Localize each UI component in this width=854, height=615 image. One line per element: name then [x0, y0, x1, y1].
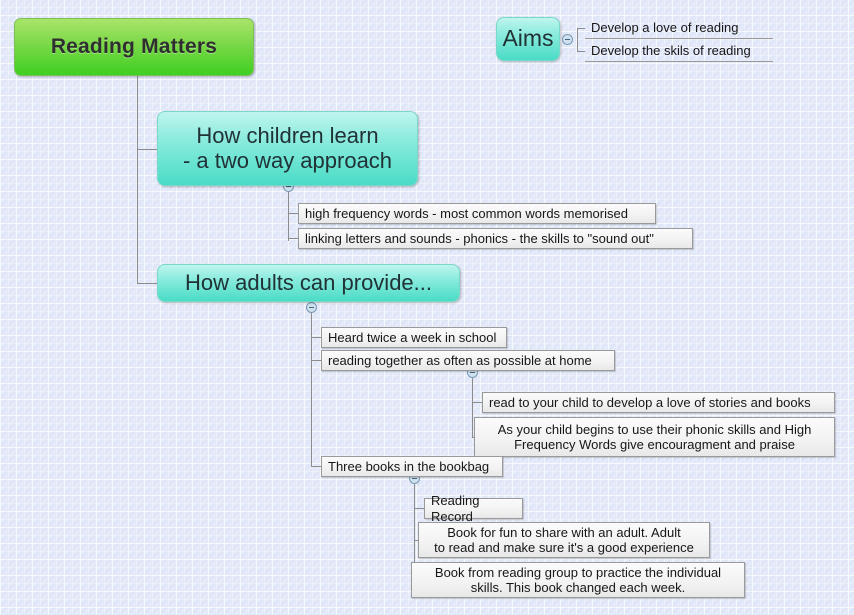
node-aims-child-develop-love[interactable]: Develop a love of reading	[585, 17, 773, 39]
node-how-children-learn[interactable]: How children learn - a two way approach	[157, 111, 418, 186]
node-heard-twice-a-week[interactable]: Heard twice a week in school	[321, 327, 507, 348]
node-phonic-skills-encouragement[interactable]: As your child begins to use their phonic…	[474, 417, 835, 457]
node-aims-child-develop-skills[interactable]: Develop the skils of reading	[585, 40, 773, 62]
collapse-toggle-how-adults[interactable]	[306, 302, 317, 313]
connector-reading-together-trunk	[472, 372, 473, 438]
connector-root-to-how-children	[137, 149, 157, 150]
connector-how-children-leaf-2	[288, 238, 298, 239]
connector-aims-leaf-2	[577, 51, 585, 52]
root-node-reading-matters[interactable]: Reading Matters	[14, 18, 254, 76]
node-reading-record[interactable]: Reading Record	[424, 498, 523, 519]
mindmap-canvas[interactable]: Reading Matters Aims Develop a love of r…	[0, 0, 854, 615]
collapse-toggle-aims[interactable]	[562, 34, 573, 45]
connector-aims-trunk	[577, 28, 578, 51]
connector-how-adults-child-3	[311, 466, 321, 467]
connector-aims-leaf-1	[577, 28, 585, 29]
node-linking-letters-and-sounds[interactable]: linking letters and sounds - phonics - t…	[298, 228, 693, 249]
connector-how-adults-trunk	[311, 307, 312, 466]
connector-how-children-leaf-1	[288, 213, 298, 214]
node-reading-together-at-home[interactable]: reading together as often as possible at…	[321, 350, 615, 371]
node-how-adults-can-provide[interactable]: How adults can provide...	[157, 264, 460, 302]
connector-how-adults-child-1	[311, 337, 321, 338]
connector-reading-together-leaf-1	[472, 402, 482, 403]
node-three-books-in-bookbag[interactable]: Three books in the bookbag	[321, 456, 503, 477]
connector-three-books-leaf-1	[414, 508, 424, 509]
node-read-to-your-child[interactable]: read to your child to develop a love of …	[482, 392, 835, 413]
connector-root-to-how-adults	[137, 283, 157, 284]
connector-how-adults-child-2	[311, 360, 321, 361]
node-aims[interactable]: Aims	[496, 17, 560, 61]
node-book-from-reading-group[interactable]: Book from reading group to practice the …	[411, 562, 745, 598]
connector-root-trunk	[137, 76, 138, 283]
node-high-frequency-words[interactable]: high frequency words - most common words…	[298, 203, 656, 224]
node-book-for-fun[interactable]: Book for fun to share with an adult. Adu…	[418, 522, 710, 558]
